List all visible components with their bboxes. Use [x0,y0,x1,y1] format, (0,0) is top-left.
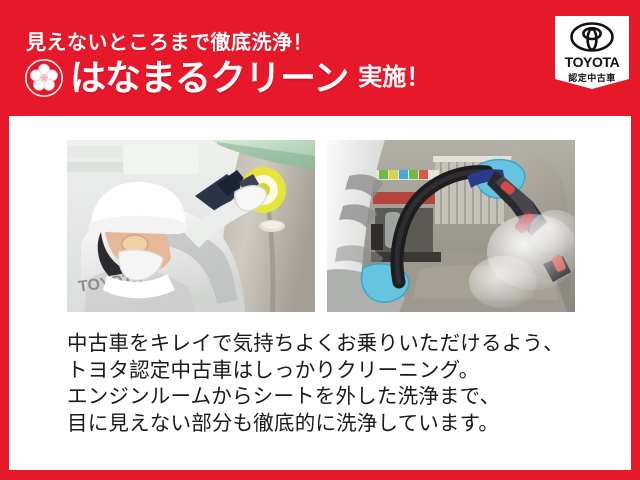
hanamaru-clean-banner: 見えないところまで徹底洗浄！ [0,0,640,480]
toyota-badge-inner: TOYOTA 認定中古車 [555,16,629,98]
photo-row: TOYOTA [67,140,575,312]
brand-logo-row: はなまるクリーン 実施！ [24,56,430,100]
body-copy-line-3: エンジンルームからシートを外した洗浄まで、 [67,384,607,411]
brand-logo-text: はなまるクリーン [70,58,348,98]
content-frame: TOYOTA [0,114,640,480]
toyota-badge-chevron [555,76,629,98]
body-copy-line-2: トヨタ認定中古車はしっかりクリーニング。 [67,358,607,385]
headline-text: 見えないところまで徹底洗浄！ [26,26,313,55]
toyota-emblem-icon [570,22,614,52]
banner-header: 見えないところまで徹底洗浄！ [0,0,640,114]
toyota-certified-badge: TOYOTA 認定中古車 [553,14,631,100]
hanamaru-flower-icon [24,58,64,98]
body-copy-line-4: 目に見えない部分も徹底的に洗浄しています。 [67,411,607,438]
body-copy-line-1: 中古車をキレイで気持ちよくお乗りいただけるよう、 [67,331,607,358]
content-panel: TOYOTA [9,116,631,470]
photo-exterior-polishing: TOYOTA [67,140,315,312]
body-copy: 中古車をキレイで気持ちよくお乗りいただけるよう、 トヨタ認定中古車はしっかりクリ… [67,331,607,437]
toyota-wordmark: TOYOTA [555,54,629,70]
photo-interior-steam-cleaning [327,140,575,312]
brand-logo-suffix: 実施！ [358,58,430,98]
